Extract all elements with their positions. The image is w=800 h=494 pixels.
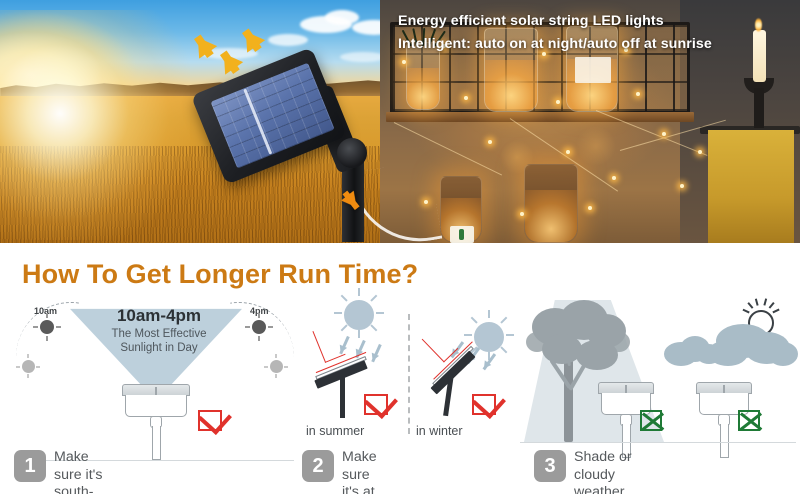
- sun-ray: [33, 326, 38, 328]
- sun-ray: [258, 336, 260, 341]
- led-dot: [662, 132, 666, 136]
- step-number-badge: 1: [14, 450, 46, 482]
- led-dot: [588, 206, 592, 210]
- sun-ray: [36, 366, 40, 368]
- step-text: Make sure it's south-facing and exposed …: [54, 449, 108, 494]
- sun-ray: [500, 346, 507, 353]
- check-mark-icon: [198, 410, 222, 431]
- sun-ray: [275, 374, 277, 378]
- sun-10am-icon: [40, 320, 54, 334]
- section-title: How To Get Longer Run Time?: [22, 259, 418, 290]
- sun-ray: [471, 317, 478, 324]
- sun-ray: [27, 374, 29, 378]
- season-label-winter: in winter: [416, 424, 463, 438]
- step-number-badge: 3: [534, 450, 566, 482]
- sun-ray: [27, 354, 29, 358]
- sun-ray: [506, 334, 514, 336]
- cloud-icon: [325, 10, 359, 25]
- solar-panel-product: [196, 58, 406, 243]
- sun-ray: [376, 312, 384, 314]
- hero-caption-line2: Intelligent: auto on at night/auto off a…: [398, 33, 793, 56]
- sun-ray: [488, 310, 490, 318]
- check-mark-icon: [364, 394, 388, 415]
- led-dot: [636, 92, 640, 96]
- cloud-icon: [768, 342, 798, 366]
- hero-caption-line1: Energy efficient solar string LED lights: [398, 10, 793, 33]
- sun-late-icon: [270, 360, 283, 373]
- sun-ray: [245, 326, 250, 328]
- ground-line: [520, 442, 796, 443]
- wedge-title: 10am-4pm: [84, 306, 234, 326]
- tree-trunk: [564, 360, 573, 442]
- sun-ray: [500, 317, 507, 324]
- jar-label: [575, 57, 611, 83]
- hero-caption: Energy efficient solar string LED lights…: [398, 10, 793, 56]
- cactus-tag: [450, 226, 474, 243]
- led-dot: [556, 100, 560, 104]
- sun-ray: [755, 298, 759, 305]
- sun-ray: [275, 354, 277, 358]
- sun-4pm-icon: [252, 320, 266, 334]
- led-dot: [566, 150, 570, 154]
- sun-ray: [747, 302, 753, 309]
- step-captions: 1 Make sure it's south-facing and expose…: [0, 448, 800, 494]
- sun-ray: [743, 309, 750, 314]
- infographic-page: Energy efficient solar string LED lights…: [0, 0, 800, 494]
- tree-foliage: [526, 332, 548, 352]
- x-mark-icon: [640, 410, 662, 431]
- panel-hinge: [337, 138, 367, 168]
- solar-panel-head: [191, 47, 347, 185]
- candle-stand: [754, 88, 764, 128]
- step-text: Shade or cloudy weather may decrease the…: [574, 449, 632, 494]
- x-mark-icon: [738, 410, 760, 431]
- sun-ray: [258, 313, 260, 318]
- sun-ray: [769, 302, 775, 309]
- check-mark-icon: [472, 394, 496, 415]
- sun-ray: [763, 298, 767, 305]
- yellow-cabinet: [708, 130, 794, 243]
- sun-ray: [370, 324, 377, 331]
- step-number-badge: 2: [302, 450, 334, 482]
- sun-ray: [46, 313, 48, 318]
- shelf-board: [386, 112, 694, 122]
- wedge-subtitle: The Most Effective Sunlight in Day: [78, 327, 240, 355]
- sun-ray: [358, 288, 360, 296]
- sun-ray: [334, 312, 342, 314]
- led-dot: [464, 96, 468, 100]
- sun-ray: [370, 295, 377, 302]
- sun-ray: [264, 366, 268, 368]
- sun-ray: [464, 334, 472, 336]
- led-dot: [680, 184, 684, 188]
- sun-ray: [268, 326, 273, 328]
- season-label-summer: in summer: [306, 424, 364, 438]
- tips-section: How To Get Longer Run Time? 10am 4pm: [0, 243, 800, 494]
- sun-ray: [358, 330, 360, 338]
- led-dot: [488, 140, 492, 144]
- sunbeam-arrow-icon: [481, 360, 492, 370]
- sun-ray: [46, 336, 48, 341]
- panel-divider: [408, 314, 410, 434]
- sun-early-icon: [22, 360, 35, 373]
- tree-foliage: [608, 332, 630, 352]
- photovoltaic-cells: [210, 63, 334, 169]
- sun-ray: [341, 324, 348, 331]
- glass-jar: [524, 164, 578, 243]
- sun-ray: [772, 309, 779, 314]
- led-dot: [612, 176, 616, 180]
- cloud-icon: [268, 34, 308, 46]
- cloud-icon: [708, 340, 748, 366]
- sun-ray: [56, 326, 61, 328]
- led-dot: [698, 150, 702, 154]
- step-text: Make sure it's at 90º angle to sun at no…: [342, 449, 377, 494]
- hero-banner: Energy efficient solar string LED lights…: [0, 0, 800, 243]
- sun-ray: [284, 366, 288, 368]
- panel-pole: [340, 376, 345, 418]
- sun-ray: [341, 295, 348, 302]
- lamp-body: [125, 395, 187, 417]
- led-dot: [520, 212, 524, 216]
- sunbeam-arrow-icon: [369, 353, 379, 363]
- sun-ray: [16, 366, 20, 368]
